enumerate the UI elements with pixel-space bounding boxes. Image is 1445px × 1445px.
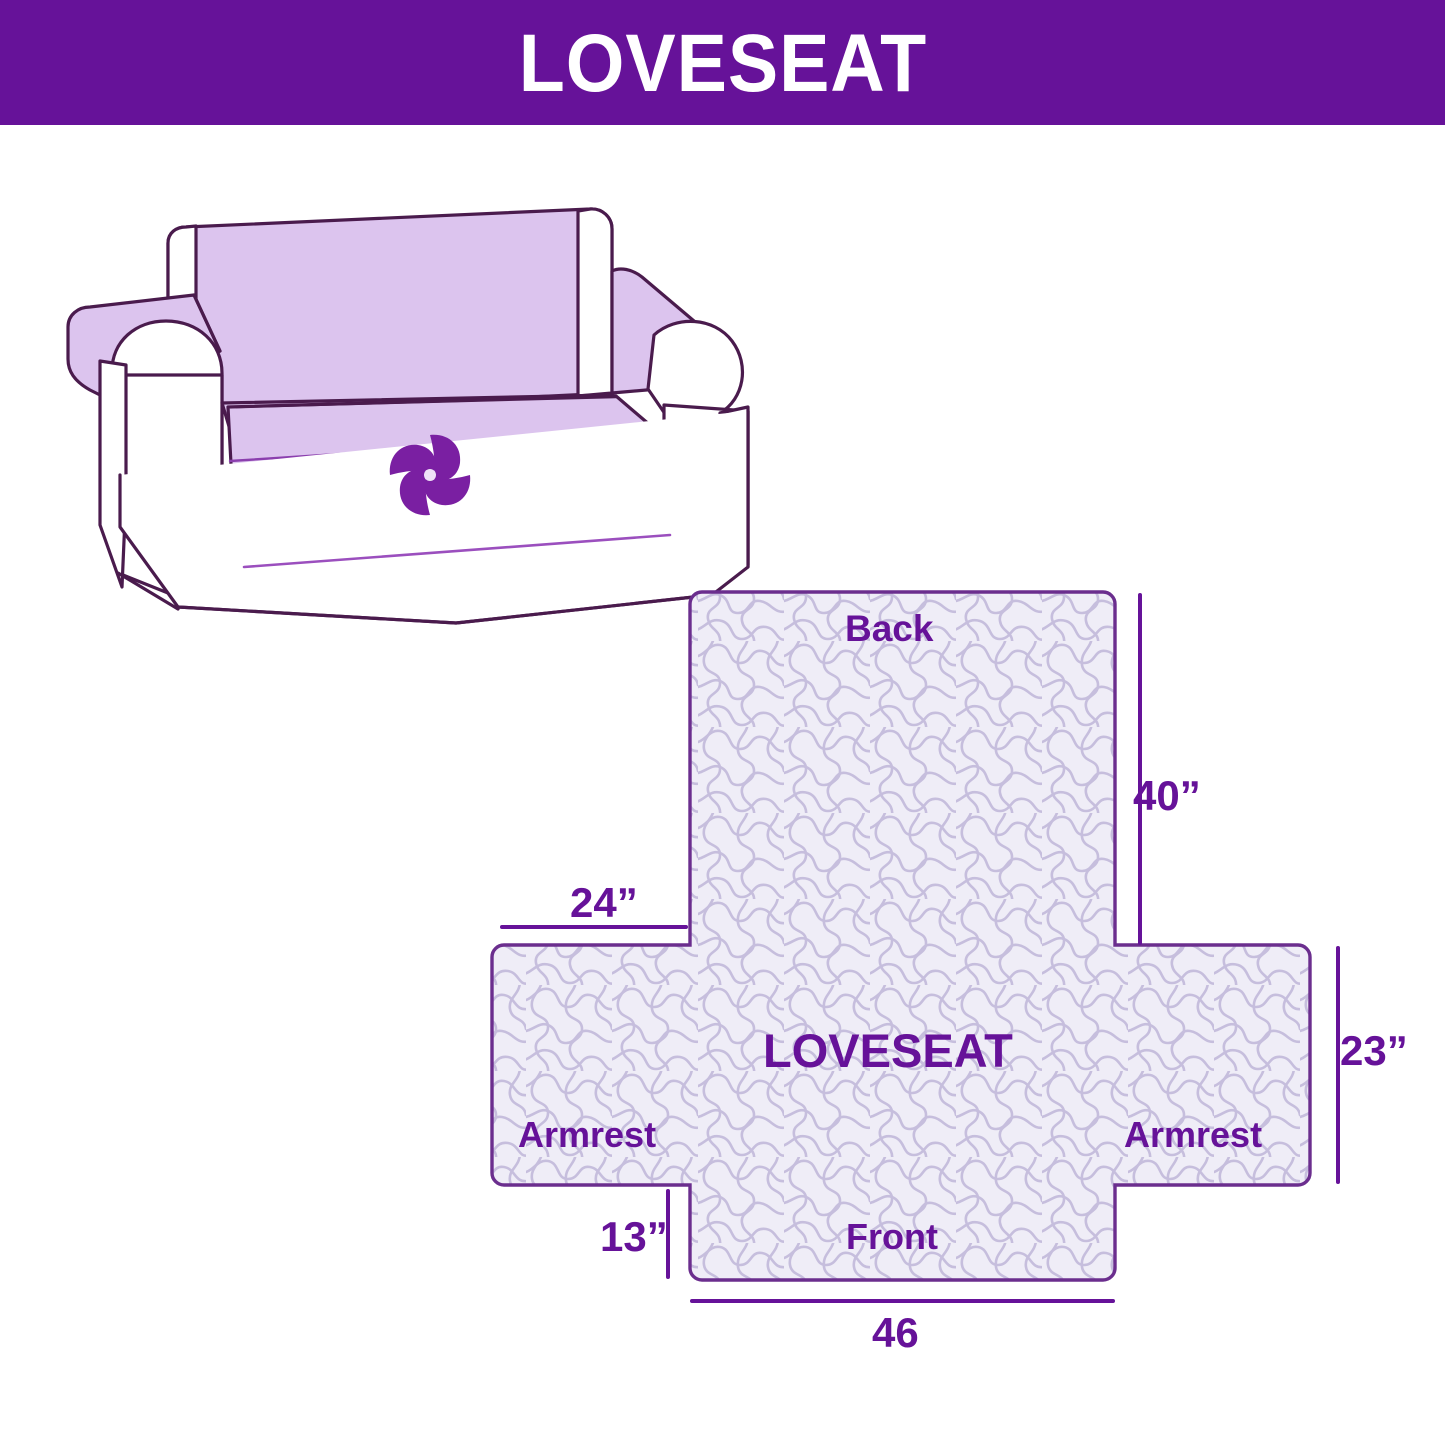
label-front: Front bbox=[846, 1219, 938, 1255]
page-title: LOVESEAT bbox=[518, 23, 926, 105]
dimension-back-height: 40” bbox=[1133, 775, 1201, 817]
dimension-armrest-top-width: 24” bbox=[570, 882, 638, 924]
label-loveseat: LOVESEAT bbox=[763, 1027, 1013, 1074]
slipcover-outline bbox=[492, 592, 1310, 1280]
product-size-chart: LOVESEAT bbox=[0, 0, 1445, 1445]
label-armrest-left: Armrest bbox=[518, 1117, 656, 1153]
flat-pattern-diagram bbox=[440, 555, 1445, 1445]
dimension-armrest-height: 23” bbox=[1340, 1030, 1408, 1072]
dimension-front-width: 46 bbox=[872, 1312, 919, 1354]
label-armrest-right: Armrest bbox=[1124, 1117, 1262, 1153]
label-back: Back bbox=[845, 610, 933, 647]
header-banner: LOVESEAT bbox=[0, 0, 1445, 125]
pattern-svg bbox=[440, 555, 1445, 1445]
dimension-front-height: 13” bbox=[600, 1216, 668, 1258]
